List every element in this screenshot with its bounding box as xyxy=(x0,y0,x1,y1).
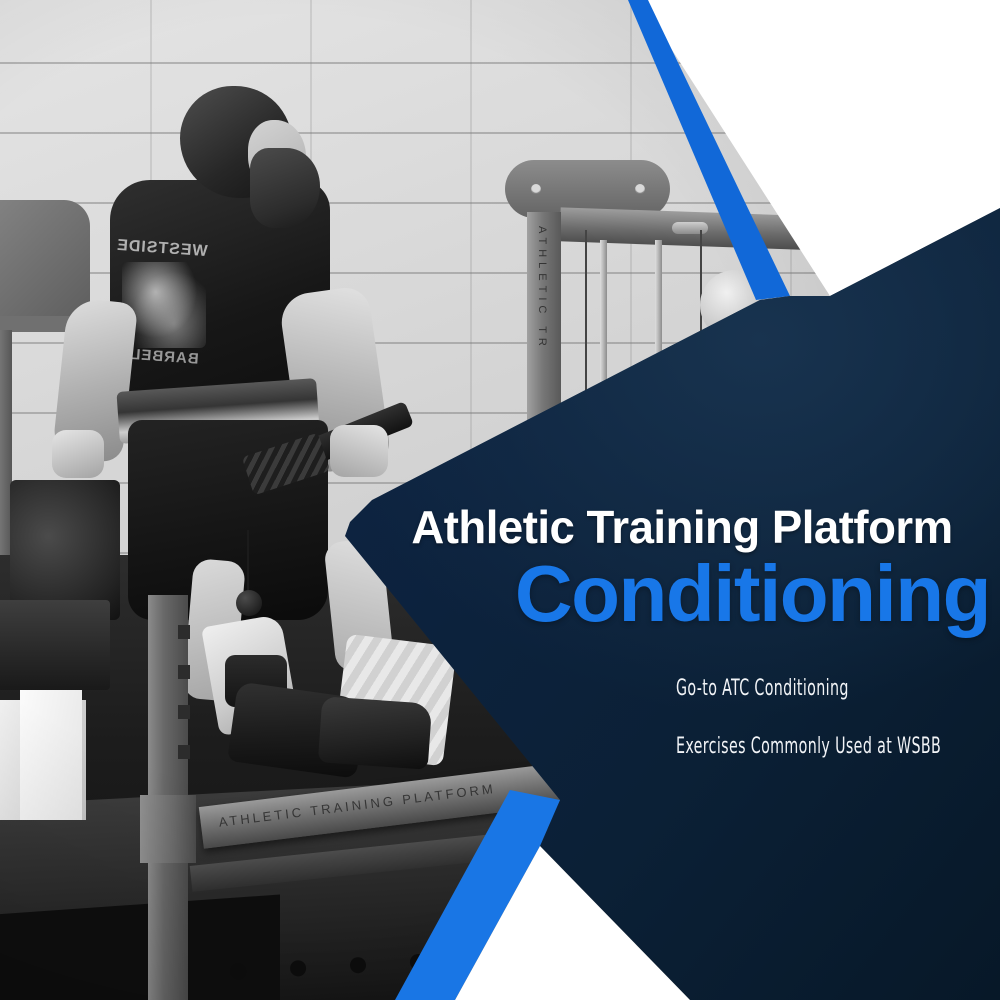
banner-bullet-list: Go-to ATC Conditioning Exercises Commonl… xyxy=(676,676,976,792)
banner-headline: Athletic Training Platform xyxy=(375,503,989,551)
promo-banner: ATHLETIC TR WESTSIDE BARBELL xyxy=(0,0,1000,1000)
banner-bullet-1: Go-to ATC Conditioning xyxy=(676,676,892,702)
banner-text: Athletic Training Platform Conditioning … xyxy=(0,0,1000,1000)
banner-bullet-2: Exercises Commonly Used at WSBB xyxy=(676,734,892,760)
banner-subheadline: Conditioning xyxy=(372,552,990,636)
